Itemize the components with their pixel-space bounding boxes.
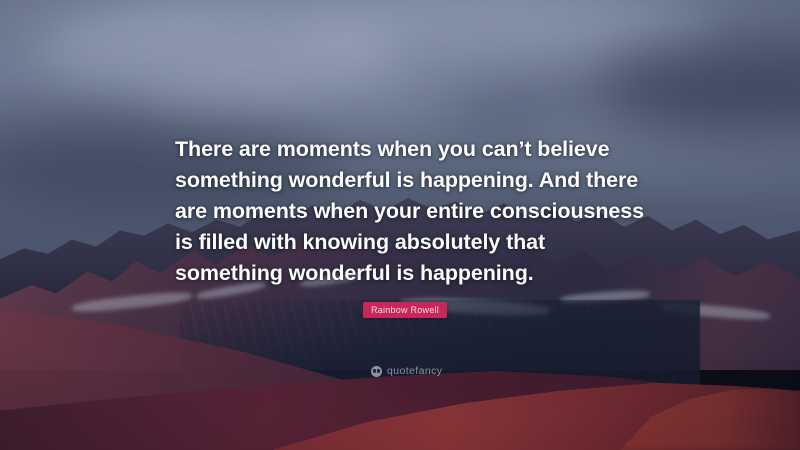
quote-line: are moments when your entire consciousne… <box>175 196 645 227</box>
watermark[interactable]: quotefancy <box>371 365 442 377</box>
quote-line: something wonderful is happening. And th… <box>175 165 645 196</box>
author-name: Rainbow Rowell <box>371 305 439 315</box>
quote-wallpaper: There are moments when you can’t believe… <box>0 0 800 450</box>
quote-mark-circle-icon <box>371 366 382 377</box>
watermark-brand: quotefancy <box>387 365 442 377</box>
author-badge[interactable]: Rainbow Rowell <box>363 302 447 318</box>
quote-line: is filled with knowing absolutely that <box>175 227 645 258</box>
quote-text: There are moments when you can’t believe… <box>175 134 645 289</box>
quote-line: something wonderful is happening. <box>175 258 645 289</box>
quote-line: There are moments when you can’t believe <box>175 134 645 165</box>
